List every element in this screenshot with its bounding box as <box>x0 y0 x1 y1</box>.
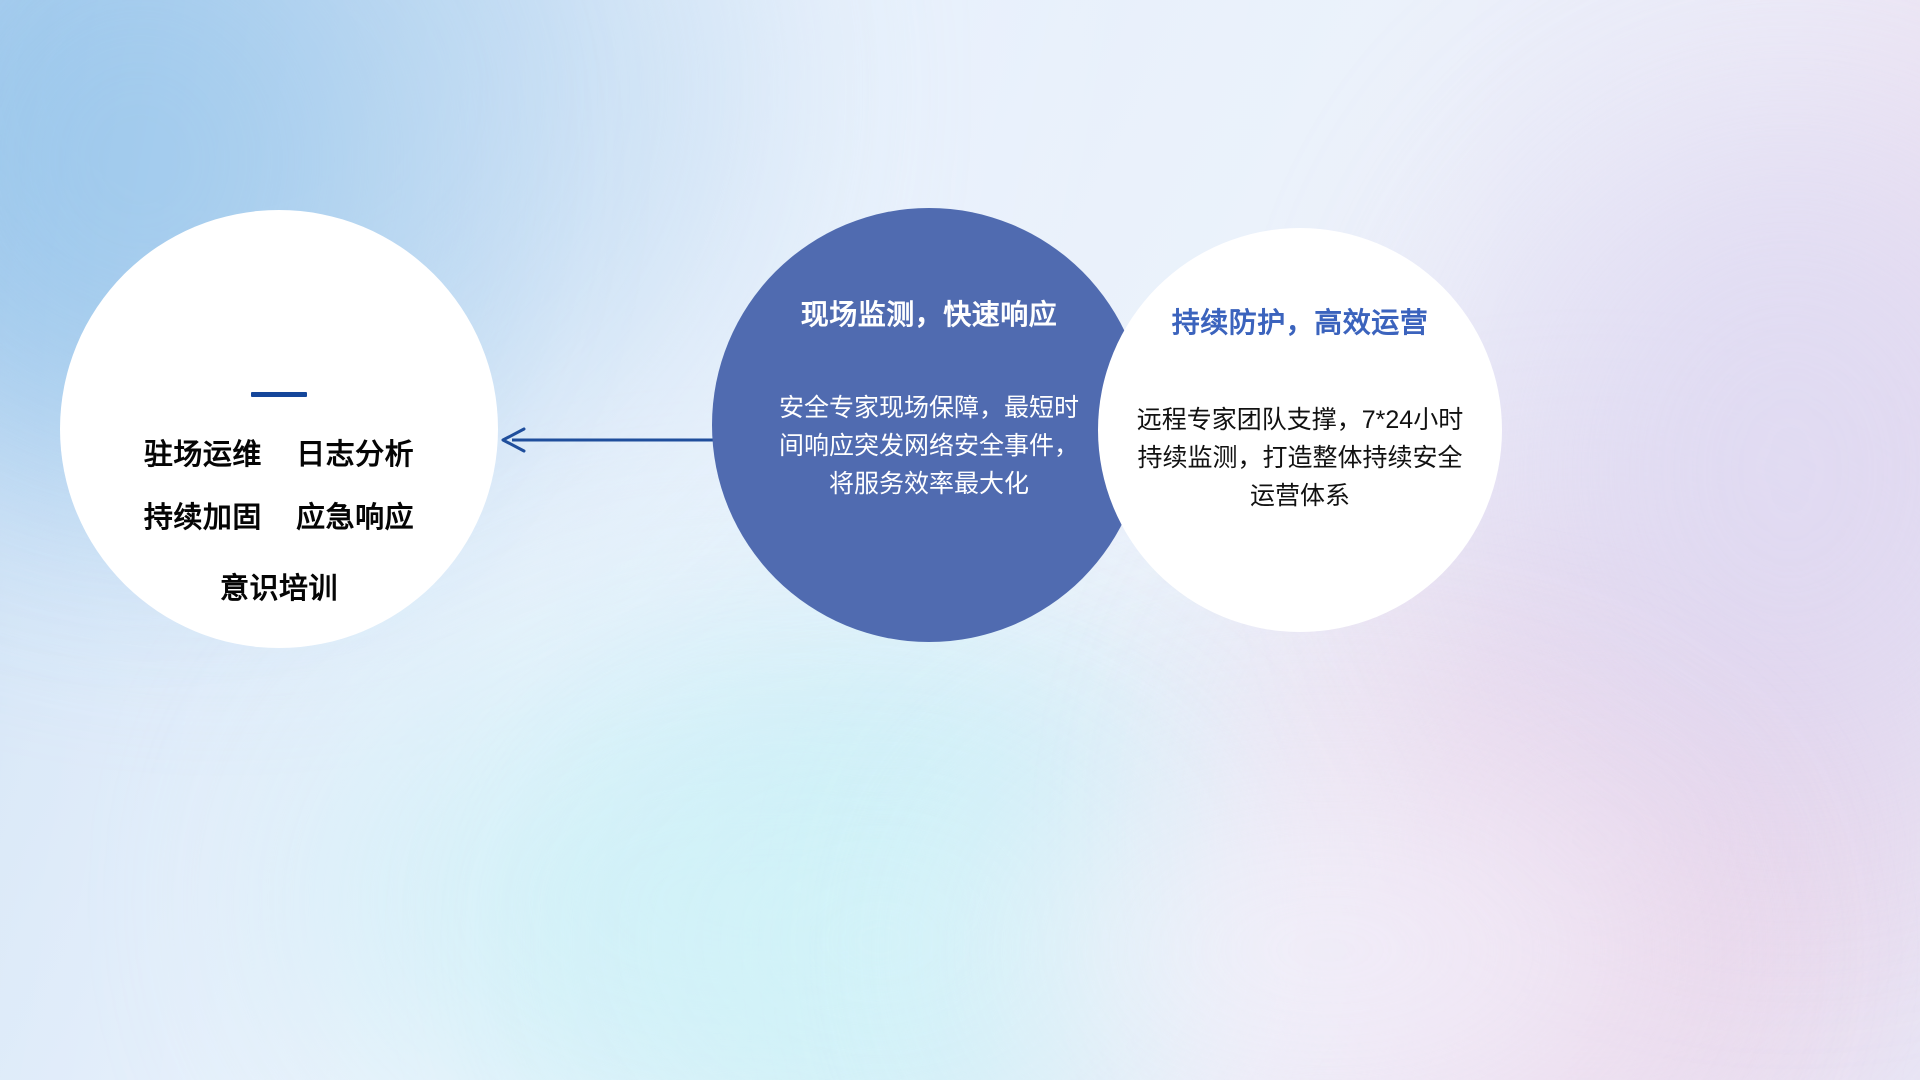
left-circle-content: 驻场运维 日志分析 持续加固 应急响应 意识培训 <box>60 210 498 604</box>
background-blob-white <box>980 760 1680 1080</box>
background-blob-cyan-inner <box>620 790 1140 1080</box>
slide-canvas: 驻场运维 日志分析 持续加固 应急响应 意识培训 现场监测，快速响应 安全专家现… <box>0 0 1920 1080</box>
background-blob-pink <box>1280 560 1900 1080</box>
background-blob-cyan <box>330 640 1230 1080</box>
left-circle-card: 驻场运维 日志分析 持续加固 应急响应 意识培训 <box>60 210 498 648</box>
right-circle-card: 持续防护，高效运营 远程专家团队支撑，7*24小时持续监测，打造整体持续安全运营… <box>1098 228 1502 632</box>
middle-circle-body: 安全专家现场保障，最短时间响应突发网络安全事件，将服务效率最大化 <box>770 389 1088 503</box>
middle-circle-card: 现场监测，快速响应 安全专家现场保障，最短时间响应突发网络安全事件，将服务效率最… <box>712 208 1146 642</box>
background-blob-lavender <box>1480 120 1920 820</box>
middle-circle-title: 现场监测，快速响应 <box>712 300 1146 331</box>
left-circle-line-1: 驻场运维 日志分析 <box>60 441 498 470</box>
right-circle-content: 持续防护，高效运营 远程专家团队支撑，7*24小时持续监测，打造整体持续安全运营… <box>1098 228 1502 515</box>
left-circle-line-3: 意识培训 <box>60 575 498 604</box>
left-circle-divider <box>251 392 307 397</box>
left-circle-line-2: 持续加固 应急响应 <box>60 504 498 533</box>
middle-circle-content: 现场监测，快速响应 安全专家现场保障，最短时间响应突发网络安全事件，将服务效率最… <box>712 208 1146 503</box>
arrow-connector-left <box>490 418 720 462</box>
right-circle-title: 持续防护，高效运营 <box>1098 308 1502 339</box>
right-circle-body: 远程专家团队支撑，7*24小时持续监测，打造整体持续安全运营体系 <box>1135 401 1465 515</box>
